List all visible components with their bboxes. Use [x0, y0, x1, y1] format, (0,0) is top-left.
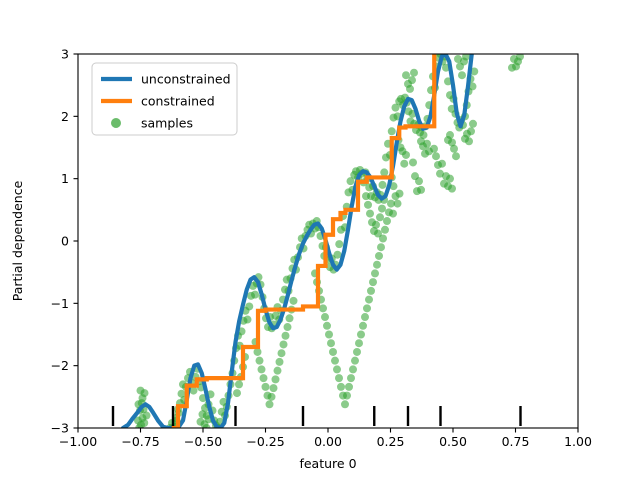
sample-point: [364, 201, 372, 209]
sample-point: [141, 389, 149, 397]
sample-point: [251, 291, 259, 299]
sample-point: [335, 374, 343, 382]
sample-point: [245, 302, 253, 310]
sample-point: [366, 210, 374, 218]
sample-point: [376, 213, 384, 221]
y-tick-label: −1: [51, 296, 69, 311]
sample-point: [378, 205, 386, 213]
y-tick-label: 0: [61, 234, 69, 249]
x-tick-label: −0.50: [184, 434, 222, 449]
sample-point: [375, 252, 383, 260]
sample-point: [373, 261, 381, 269]
legend: unconstrainedconstrainedsamples: [92, 63, 237, 135]
sample-point: [258, 365, 266, 373]
sample-point: [402, 71, 410, 79]
sample-point: [469, 120, 477, 128]
sample-point: [508, 64, 516, 72]
sample-point: [278, 349, 286, 357]
sample-point: [268, 393, 276, 401]
sample-point: [404, 80, 412, 88]
sample-point: [353, 348, 361, 356]
y-axis-label: Partial dependence: [10, 180, 25, 301]
sample-point: [383, 217, 391, 225]
sample-point: [359, 322, 367, 330]
sample-point: [355, 339, 363, 347]
sample-point: [262, 383, 270, 391]
x-tick-label: 1.00: [564, 434, 592, 449]
sample-point: [333, 365, 341, 373]
sample-point: [260, 374, 268, 382]
x-tick-label: 0.75: [502, 434, 530, 449]
y-tick-label: 3: [61, 47, 69, 62]
sample-point: [274, 367, 282, 375]
sample-point: [387, 200, 395, 208]
y-tick-label: −2: [51, 358, 69, 373]
sample-point: [321, 313, 329, 321]
sample-point: [432, 152, 440, 160]
sample-point: [341, 400, 349, 408]
sample-point: [331, 357, 339, 365]
sample-point: [362, 192, 370, 200]
sample-point: [284, 323, 292, 331]
sample-point: [402, 151, 410, 159]
sample-point: [417, 186, 425, 194]
sample-point: [430, 145, 438, 153]
sample-point: [363, 304, 371, 312]
x-tick-label: −0.25: [246, 434, 284, 449]
sample-point: [329, 348, 337, 356]
sample-point: [365, 296, 373, 304]
partial-dependence-plot: −1.00−0.75−0.50−0.250.000.250.500.751.00…: [0, 0, 640, 480]
sample-point: [448, 185, 456, 193]
sample-point: [347, 374, 355, 382]
y-tick-label: 2: [61, 109, 69, 124]
sample-point: [325, 331, 333, 339]
sample-point: [272, 375, 280, 383]
sample-point: [254, 348, 262, 356]
x-axis-label: feature 0: [299, 456, 356, 471]
matplotlib-figure: −1.00−0.75−0.50−0.250.000.250.500.751.00…: [0, 0, 640, 480]
sample-point: [323, 322, 331, 330]
sample-point: [377, 243, 385, 251]
sample-point: [199, 410, 207, 418]
sample-point: [343, 392, 351, 400]
sample-point: [409, 158, 417, 166]
sample-point: [458, 71, 466, 79]
sample-point: [467, 127, 475, 135]
sample-point: [337, 383, 345, 391]
sample-point: [388, 127, 396, 135]
sample-point: [368, 218, 376, 226]
sample-point: [319, 304, 327, 312]
sample-point: [235, 380, 243, 388]
sample-point: [282, 332, 290, 340]
sample-point: [266, 400, 274, 408]
sample-point: [370, 227, 378, 235]
sample-point: [446, 175, 454, 183]
legend-label-constrained: constrained: [141, 94, 215, 109]
sample-point: [197, 418, 205, 426]
sample-point: [461, 135, 469, 143]
sample-point: [367, 287, 375, 295]
sample-point: [140, 419, 148, 427]
sample-point: [286, 314, 294, 322]
sample-point: [452, 152, 460, 160]
sample-point: [444, 136, 452, 144]
sample-point: [380, 168, 388, 176]
x-tick-label: −0.75: [121, 434, 159, 449]
y-axis-group: −3−2−10123: [51, 47, 78, 436]
y-tick-label: −3: [51, 421, 69, 436]
x-tick-label: 0.25: [377, 434, 405, 449]
sample-point: [349, 365, 357, 373]
x-axis-group: −1.00−0.75−0.50−0.250.000.250.500.751.00: [59, 428, 592, 449]
x-tick-label: −1.00: [59, 434, 97, 449]
sample-point: [379, 181, 387, 189]
legend-label-samples: samples: [141, 116, 193, 131]
sample-point: [410, 69, 418, 77]
sample-point: [381, 226, 389, 234]
sample-point: [415, 177, 423, 185]
sample-point: [389, 210, 397, 218]
sample-point: [143, 412, 151, 420]
sample-point: [345, 383, 353, 391]
x-tick-label: 0.00: [314, 434, 342, 449]
sample-point: [256, 357, 264, 365]
sample-point: [276, 358, 284, 366]
sample-point: [280, 340, 288, 348]
sample-point: [396, 190, 404, 198]
sample-point: [438, 160, 446, 168]
sample-point: [400, 160, 408, 168]
sample-point: [371, 269, 379, 277]
sample-point: [369, 278, 377, 286]
sample-point: [361, 313, 369, 321]
sample-point: [290, 297, 298, 305]
sample-point: [351, 357, 359, 365]
sample-point: [270, 384, 278, 392]
y-tick-label: 1: [61, 171, 69, 186]
sample-point: [357, 331, 365, 339]
sample-point: [335, 240, 343, 248]
legend-swatch-samples: [111, 118, 121, 128]
sample-point: [327, 339, 335, 347]
sample-point: [417, 137, 425, 145]
sample-point: [244, 316, 252, 324]
legend-label-unconstrained: unconstrained: [141, 72, 231, 87]
sample-point: [233, 389, 241, 397]
x-tick-label: 0.50: [439, 434, 467, 449]
